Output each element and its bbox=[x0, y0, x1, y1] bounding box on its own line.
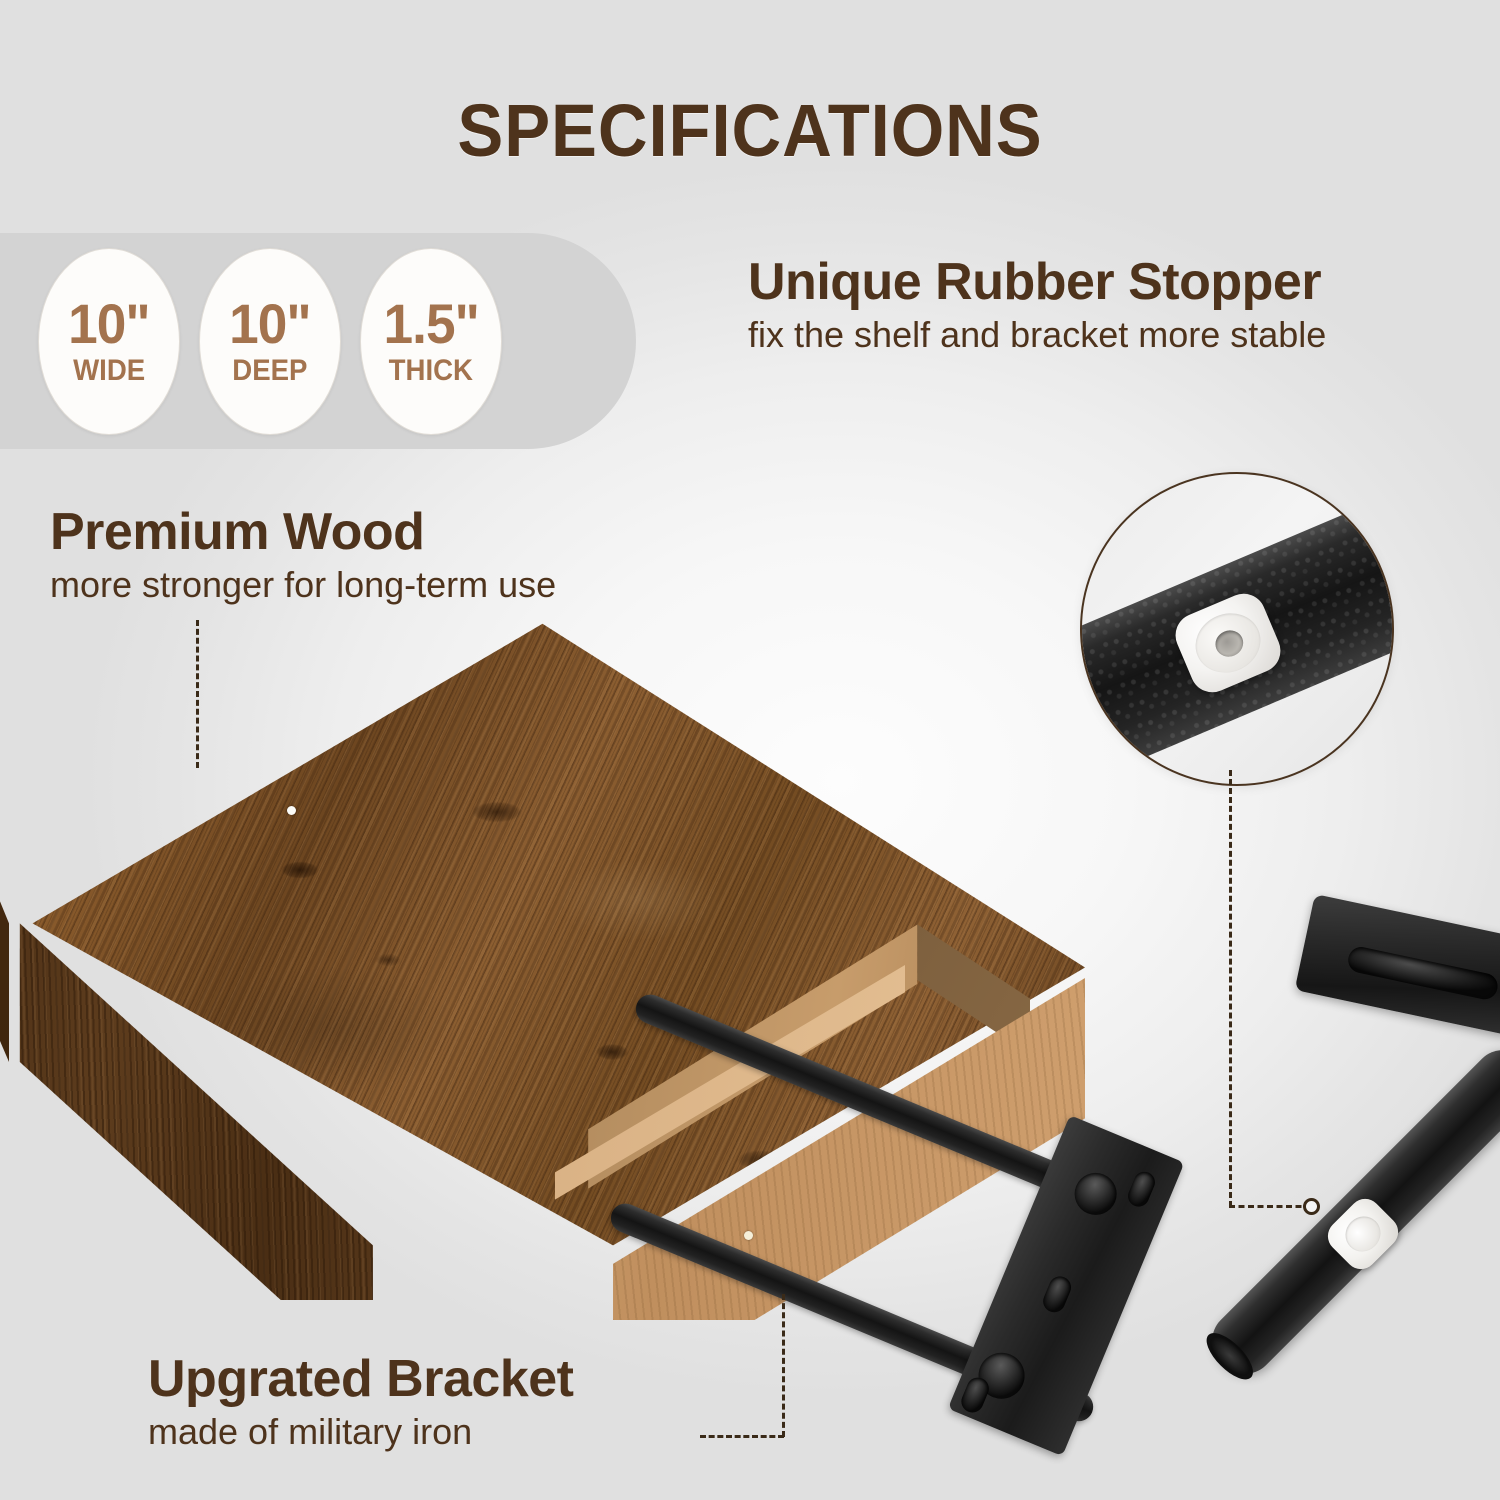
badge-thickness-label: THICK bbox=[389, 356, 473, 386]
bracket-slot-middle bbox=[1040, 1273, 1075, 1316]
badge-depth-value: 10" bbox=[229, 297, 311, 352]
badge-width-label: WIDE bbox=[73, 356, 145, 386]
leader-line-stopper-horizontal bbox=[1229, 1205, 1311, 1208]
magnifier-circle-icon bbox=[1080, 472, 1394, 786]
u-bracket-secondary bbox=[1180, 880, 1500, 1420]
badge-depth-label: DEEP bbox=[232, 356, 307, 386]
callout-premium-wood: Premium Wood more stronger for long-term… bbox=[50, 505, 556, 605]
bracket-hole-large-top bbox=[1068, 1166, 1123, 1221]
spec-badge-group: 10" WIDE 10" DEEP 1.5" THICK bbox=[38, 248, 502, 435]
callout-upgrated-bracket-sub: made of military iron bbox=[148, 1411, 573, 1452]
secondary-bracket-plate bbox=[1295, 894, 1500, 1036]
leader-line-premium-wood bbox=[196, 620, 199, 768]
leader-line-stopper-vertical bbox=[1229, 770, 1232, 1207]
leader-line-bracket-vertical bbox=[782, 1294, 785, 1437]
callout-premium-wood-sub: more stronger for long-term use bbox=[50, 564, 556, 605]
callout-premium-wood-heading: Premium Wood bbox=[50, 505, 556, 559]
leader-line-bracket-horizontal bbox=[700, 1435, 784, 1438]
shelf-pinhole-marker bbox=[287, 806, 296, 815]
badge-width: 10" WIDE bbox=[38, 248, 180, 435]
secondary-bracket-slot bbox=[1346, 945, 1500, 1002]
leader-endpoint-dot-icon bbox=[1303, 1198, 1320, 1215]
callout-rubber-stopper: Unique Rubber Stopper fix the shelf and … bbox=[748, 255, 1326, 355]
badge-depth: 10" DEEP bbox=[199, 248, 341, 435]
page-title: SPECIFICATIONS bbox=[53, 88, 1448, 173]
badge-width-value: 10" bbox=[68, 297, 150, 352]
bracket-mounting-plate bbox=[948, 1115, 1185, 1456]
callout-upgrated-bracket-heading: Upgrated Bracket bbox=[148, 1352, 573, 1406]
badge-thickness: 1.5" THICK bbox=[360, 248, 502, 435]
callout-upgrated-bracket: Upgrated Bracket made of military iron bbox=[148, 1352, 573, 1452]
callout-rubber-stopper-sub: fix the shelf and bracket more stable bbox=[748, 314, 1326, 355]
bracket-slot-top bbox=[1125, 1169, 1158, 1210]
specifications-infographic: SPECIFICATIONS 10" WIDE 10" DEEP 1.5" TH… bbox=[0, 0, 1500, 1500]
callout-rubber-stopper-heading: Unique Rubber Stopper bbox=[748, 255, 1326, 309]
bracket-pinhole-marker bbox=[744, 1231, 753, 1240]
badge-thickness-value: 1.5" bbox=[383, 297, 478, 352]
